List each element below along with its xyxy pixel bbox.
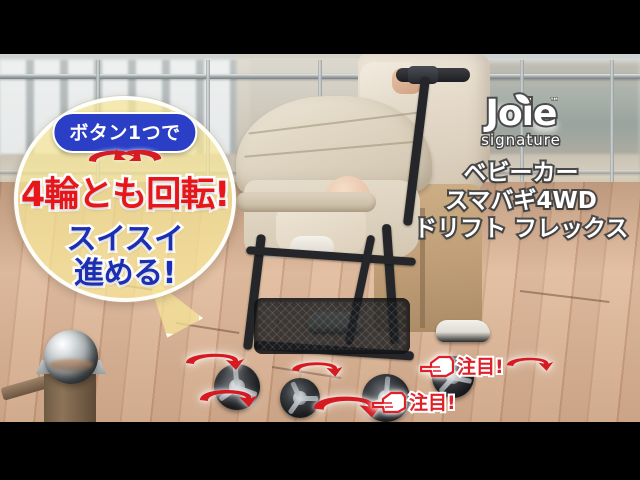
pointing-hand-icon [372, 390, 406, 414]
product-line-2: スマバギ4WD [414, 187, 628, 215]
chrome-sphere [44, 330, 98, 384]
subline-smooth-2: 進める! [74, 248, 176, 292]
stroller-basket [254, 298, 410, 354]
wheel-rotation-arrow-icon [498, 348, 558, 376]
stroller-bumper-bar [236, 192, 376, 212]
wheel-rotation-arrow-icon [176, 342, 250, 376]
wheel-rotation-arrow-icon [188, 378, 262, 412]
brand-block: Joie ™ signature ベビーカー スマバギ4WD ドリフト フレック… [414, 96, 628, 243]
trademark-icon: ™ [549, 98, 558, 108]
pointing-hand-icon [420, 354, 454, 378]
product-line-3: ドリフト フレックス [414, 215, 628, 243]
attention-callout: 注目! [420, 352, 504, 379]
wheel-rotation-arrow-icon [282, 352, 348, 382]
letterbox-bar-top [0, 0, 640, 54]
feature-callout-bubble: ボタン1つで 4輪とも回転! スイスイ 進める! [14, 96, 236, 302]
product-name: ベビーカー スマバギ4WD ドリフト フレックス [414, 159, 628, 243]
attention-callout: 注目! [372, 388, 456, 415]
joie-logo: Joie ™ [486, 96, 557, 132]
attention-label: 注目! [409, 388, 456, 415]
headline-four-wheel-rotation: 4輪とも回転! [21, 166, 229, 217]
video-frame: ボタン1つで 4輪とも回転! スイスイ 進める! Joie ™ signatur… [0, 0, 640, 480]
attention-label: 注目! [457, 352, 504, 379]
product-line-1: ベビーカー [414, 159, 628, 187]
letterbox-bar-bottom [0, 422, 640, 480]
